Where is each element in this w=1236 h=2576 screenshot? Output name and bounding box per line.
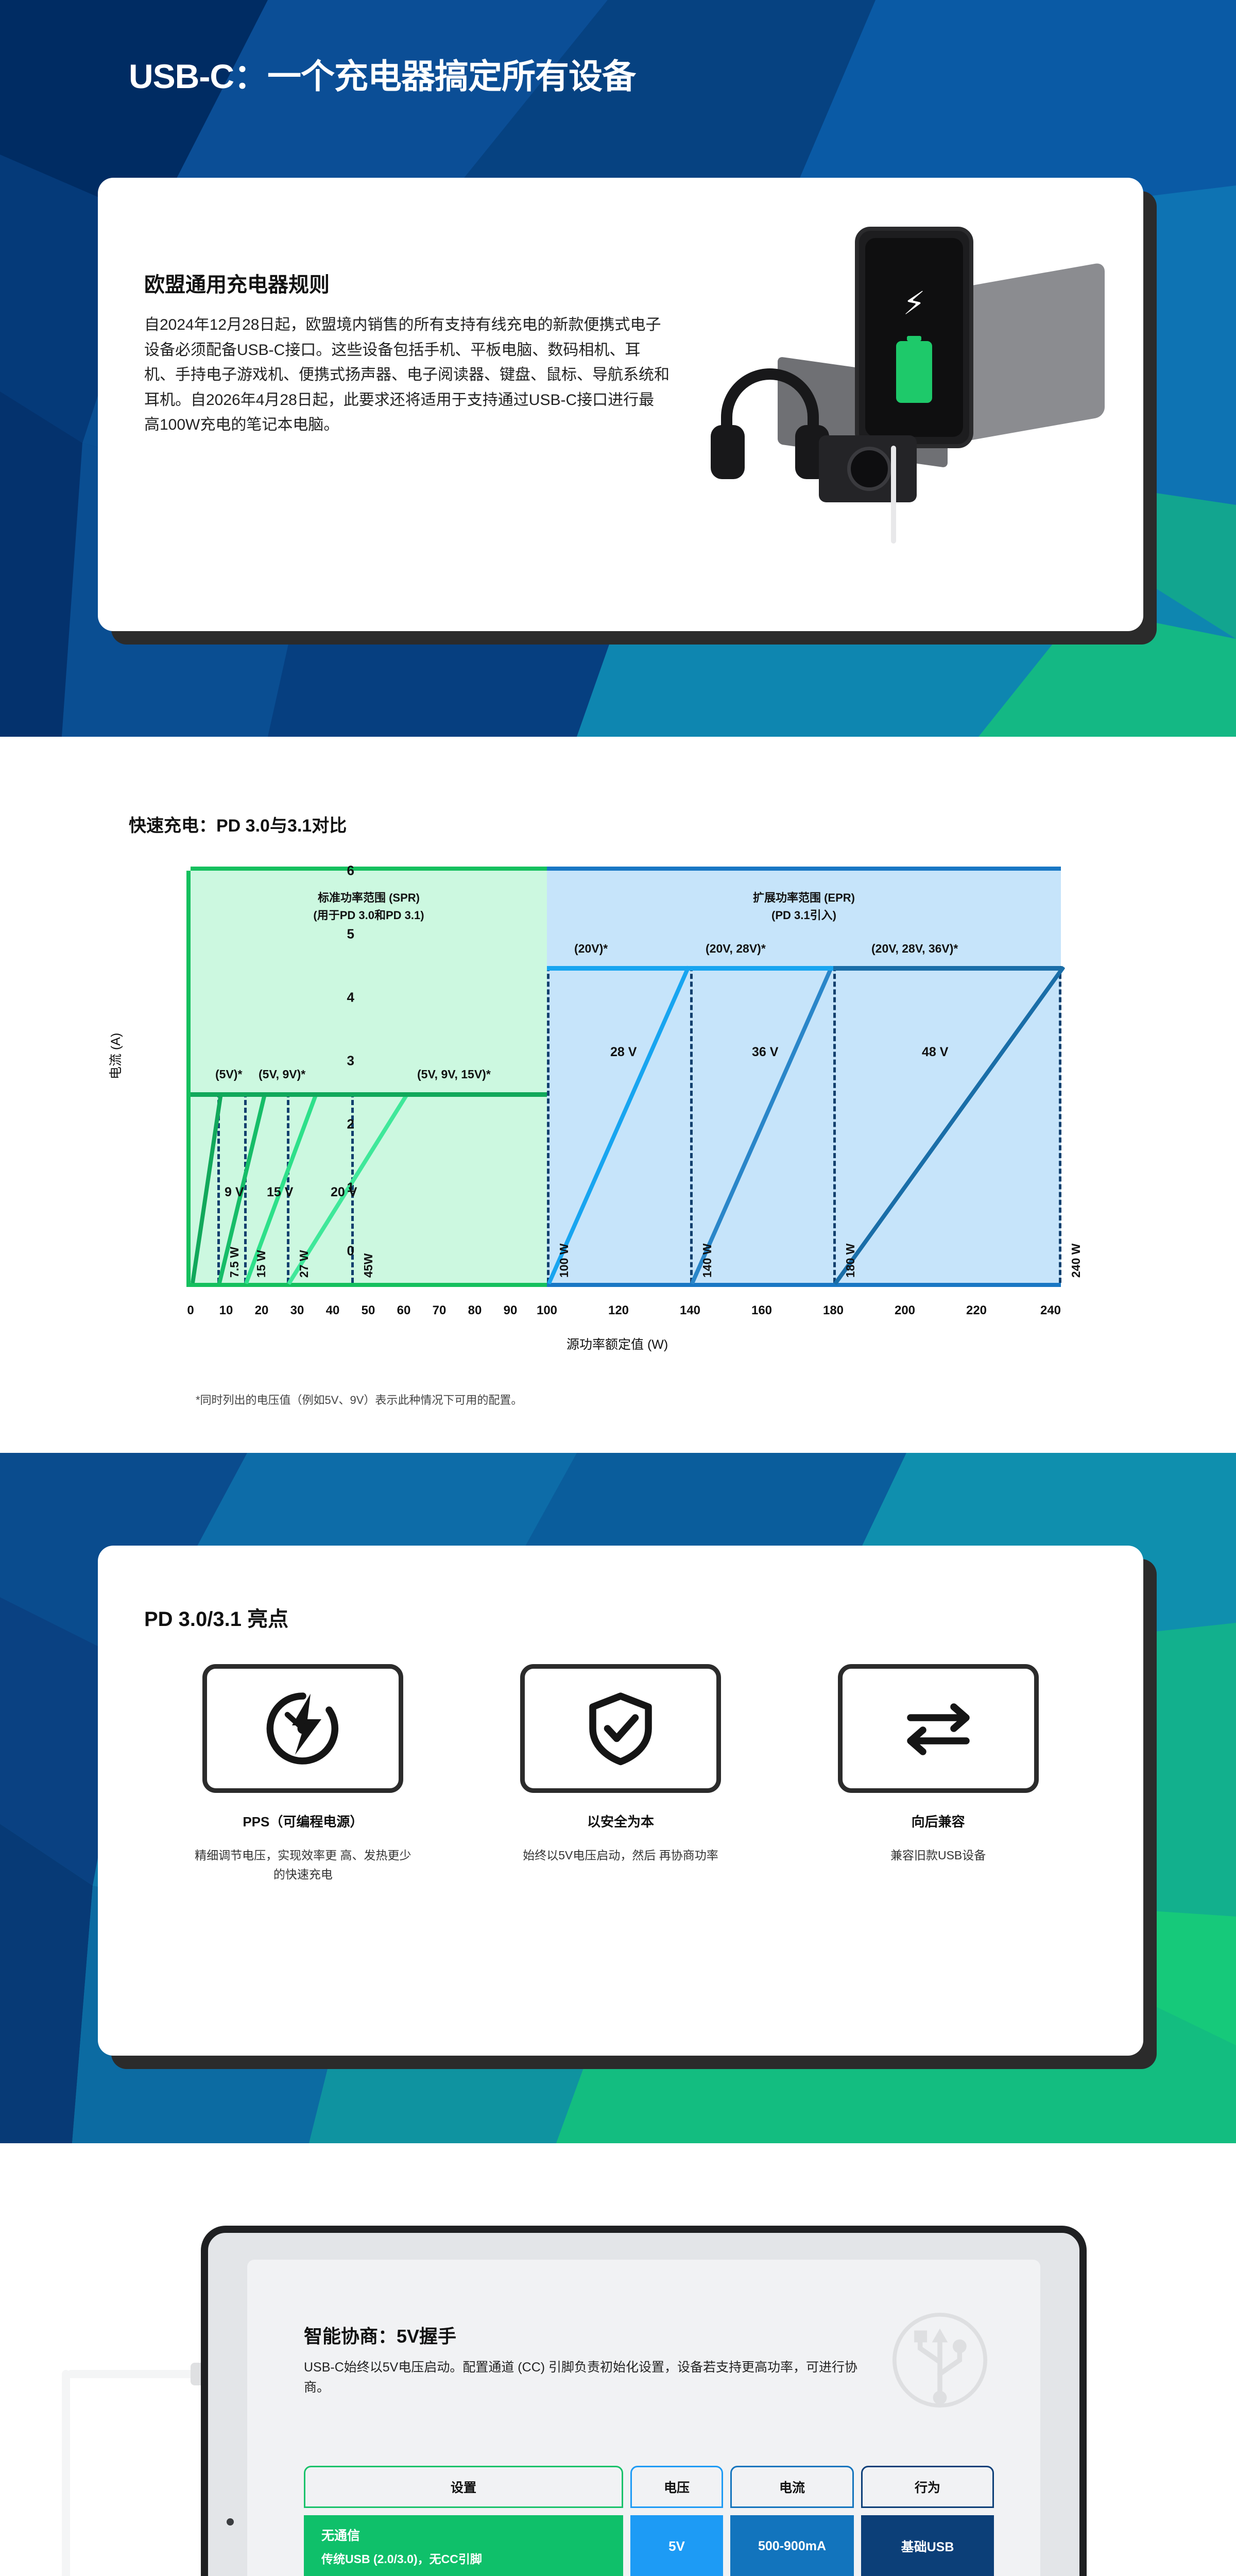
tablet-camera-dot <box>227 2518 234 2526</box>
epr-plateau-5a-light <box>547 966 833 971</box>
x-tick-160: 160 <box>751 1303 772 1318</box>
highlights-title: PD 3.0/3.1 亮点 <box>144 1602 288 1632</box>
highlight-desc: 始终以5V电压启动，然后 再协商功率 <box>510 1846 731 1865</box>
x-tick-80: 80 <box>468 1303 482 1318</box>
headphones-icon <box>711 368 829 487</box>
y-tick-1: 1 <box>347 1180 354 1196</box>
pps-icon-box <box>202 1664 403 1793</box>
x-axis-title: 源功率额定值 (W) <box>566 1334 668 1353</box>
devices-illustration: ⚡ <box>649 214 1102 585</box>
table-header-behavior: 行为 <box>861 2466 994 2508</box>
y-axis-line <box>186 871 191 1283</box>
voltage-label-36v: 36 V <box>752 1045 778 1060</box>
highlight-desc: 精细调节电压，实现效率更 高、发热更少的快速充电 <box>192 1846 414 1884</box>
eu-card-title: 欧盟通用充电器规则 <box>144 268 330 298</box>
epr-plateau-5a-dark <box>833 966 1061 971</box>
x-tick-30: 30 <box>290 1303 304 1318</box>
watt-label-45w: 45W <box>362 1253 375 1278</box>
spr-config-label-3: (5V, 9V, 15V)* <box>417 1067 491 1081</box>
camera-lens <box>847 447 891 491</box>
chart-title: 快速充电：PD 3.0与3.1对比 <box>129 811 347 837</box>
highlight-item-safety: 以安全为本 始终以5V电压启动，然后 再协商功率 <box>510 1664 731 1884</box>
x-axis-line-epr <box>547 1283 1061 1287</box>
tablet-device: 智能协商：5V握手 USB-C始终以5V电压启动。配置通道 (CC) 引脚负责初… <box>201 2226 1087 2576</box>
usb-c-cable <box>891 446 896 544</box>
battery-icon <box>896 341 932 403</box>
camera-icon <box>819 435 917 502</box>
tablet-screen: 智能协商：5V握手 USB-C始终以5V电压启动。配置通道 (CC) 引脚负责初… <box>247 2260 1040 2576</box>
x-tick-220: 220 <box>966 1303 987 1318</box>
cell-voltage: 5V <box>630 2515 723 2576</box>
x-tick-240: 240 <box>1040 1303 1061 1318</box>
x-tick-120: 120 <box>608 1303 629 1318</box>
watt-label-100w: 100 W <box>557 1244 571 1278</box>
y-tick-2: 2 <box>347 1116 354 1132</box>
highlight-item-compat: 向后兼容 兼容旧款USB设备 <box>828 1664 1049 1884</box>
breakpoint-line-100w <box>547 966 550 1283</box>
table-header-current: 电流 <box>730 2466 854 2508</box>
epr-region-topline <box>547 867 1061 871</box>
y-tick-4: 4 <box>347 990 354 1006</box>
table-header-row: 设置 电压 电流 行为 <box>304 2466 994 2508</box>
watt-label-180w: 180 W <box>844 1244 857 1278</box>
x-tick-40: 40 <box>326 1303 340 1318</box>
x-tick-70: 70 <box>433 1303 447 1318</box>
epr-config-label-1: (20V)* <box>574 942 608 956</box>
shield-check-icon <box>582 1690 659 1767</box>
x-tick-200: 200 <box>895 1303 915 1318</box>
spr-region-label: 标准功率范围 (SPR) (用于PD 3.0和PD 3.1) <box>191 889 547 924</box>
epr-config-label-2: (20V, 28V)* <box>706 942 766 956</box>
highlight-name: PPS（可编程电源） <box>192 1811 414 1831</box>
phone-screen: ⚡ <box>865 238 963 437</box>
breakpoint-line-15w <box>244 1092 247 1283</box>
cell-setting: 无通信 传统USB (2.0/3.0)，无CC引脚 <box>304 2515 623 2576</box>
highlights-card: PD 3.0/3.1 亮点 PPS（可编程电源） 精细调节电压，实现效率更 高、… <box>98 1546 1143 2056</box>
eu-card-body: 自2024年12月28日起，欧盟境内销售的所有支持有线充电的新款便携式电子设备必… <box>144 313 669 438</box>
y-axis-title: 电流 (A) <box>106 1033 124 1079</box>
x-tick-140: 140 <box>680 1303 700 1318</box>
breakpoint-line-240w <box>1059 966 1061 1283</box>
y-tick-5: 5 <box>347 926 354 942</box>
watt-label-15w: 15 W <box>254 1250 268 1278</box>
pps-power-icon <box>264 1690 341 1767</box>
headphone-cup-left <box>711 425 745 479</box>
bidirectional-arrows-icon <box>900 1690 977 1767</box>
voltage-label-28v: 28 V <box>610 1045 637 1060</box>
x-tick-100: 100 <box>537 1303 557 1318</box>
highlight-desc: 兼容旧款USB设备 <box>828 1846 1049 1865</box>
charging-cable-horizontal <box>67 2370 206 2378</box>
spr-plateau-3a <box>191 1092 547 1097</box>
pd-chart-plot: 标准功率范围 (SPR) (用于PD 3.0和PD 3.1) 扩展功率范围 (E… <box>191 871 1061 1283</box>
breakpoint-line-180w <box>833 966 836 1283</box>
highlights-grid: PPS（可编程电源） 精细调节电压，实现效率更 高、发热更少的快速充电 以安全为… <box>144 1664 1097 1884</box>
y-tick-0: 0 <box>347 1243 354 1259</box>
x-tick-90: 90 <box>504 1303 518 1318</box>
table-header-setting: 设置 <box>304 2466 623 2508</box>
safety-icon-box <box>520 1664 721 1793</box>
x-tick-50: 50 <box>362 1303 375 1318</box>
eu-regulation-card: 欧盟通用充电器规则 自2024年12月28日起，欧盟境内销售的所有支持有线充电的… <box>98 178 1143 631</box>
epr-region-label: 扩展功率范围 (EPR) (PD 3.1引入) <box>547 889 1061 924</box>
cell-setting-sub: 传统USB (2.0/3.0)，无CC引脚 <box>321 2549 482 2567</box>
watt-label-27w: 27 W <box>297 1250 311 1278</box>
epr-config-label-3: (20V, 28V, 36V)* <box>871 942 958 956</box>
tablet-icon <box>950 262 1105 444</box>
cell-behavior: 基础USB <box>861 2515 994 2576</box>
breakpoint-line-140w <box>690 966 693 1283</box>
highlight-name: 以安全为本 <box>510 1811 731 1831</box>
y-tick-3: 3 <box>347 1053 354 1069</box>
charging-bolt-icon: ⚡ <box>903 284 925 322</box>
x-tick-180: 180 <box>823 1303 844 1318</box>
y-tick-6: 6 <box>347 863 354 879</box>
cell-current: 500-900mA <box>730 2515 854 2576</box>
page-title: USB-C：一个充电器搞定所有设备 <box>129 49 636 98</box>
usb-watermark-icon <box>888 2301 991 2419</box>
voltage-label-15v: 15 V <box>267 1185 293 1200</box>
watt-label-7.5w: 7.5 W <box>228 1247 242 1278</box>
watt-label-140w: 140 W <box>700 1244 714 1278</box>
x-tick-10: 10 <box>219 1303 233 1318</box>
voltage-label-48v: 48 V <box>922 1045 948 1060</box>
smart-negotiation-title: 智能协商：5V握手 <box>304 2321 456 2348</box>
smartphone-icon: ⚡ <box>855 227 973 448</box>
spr-region-topline <box>191 867 547 871</box>
smart-negotiation-desc: USB-C始终以5V电压启动。配置通道 (CC) 引脚负责初始化设置，设备若支持… <box>304 2358 870 2398</box>
watt-label-240w: 240 W <box>1069 1244 1083 1278</box>
table-row: 无通信 传统USB (2.0/3.0)，无CC引脚 5V 500-900mA 基… <box>304 2515 994 2576</box>
cell-setting-main: 无通信 <box>321 2526 360 2544</box>
x-tick-20: 20 <box>255 1303 269 1318</box>
table-header-voltage: 电压 <box>630 2466 723 2508</box>
highlight-name: 向后兼容 <box>828 1811 1049 1831</box>
charging-cable-vertical <box>62 2370 70 2576</box>
x-axis-line-spr <box>186 1283 547 1287</box>
x-tick-60: 60 <box>397 1303 411 1318</box>
voltage-label-9v: 9 V <box>225 1185 244 1200</box>
compat-icon-box <box>838 1664 1039 1793</box>
chart-footnote: *同时列出的电压值（例如5V、9V）表示此种情况下可用的配置。 <box>196 1391 522 1408</box>
negotiation-table: 设置 电压 电流 行为 无通信 传统USB (2.0/3.0)，无CC引脚 5V… <box>304 2466 994 2576</box>
spr-config-label-1: (5V)* <box>215 1067 242 1081</box>
highlight-item-pps: PPS（可编程电源） 精细调节电压，实现效率更 高、发热更少的快速充电 <box>192 1664 414 1884</box>
x-tick-0: 0 <box>187 1303 194 1318</box>
spr-config-label-2: (5V, 9V)* <box>259 1067 305 1081</box>
